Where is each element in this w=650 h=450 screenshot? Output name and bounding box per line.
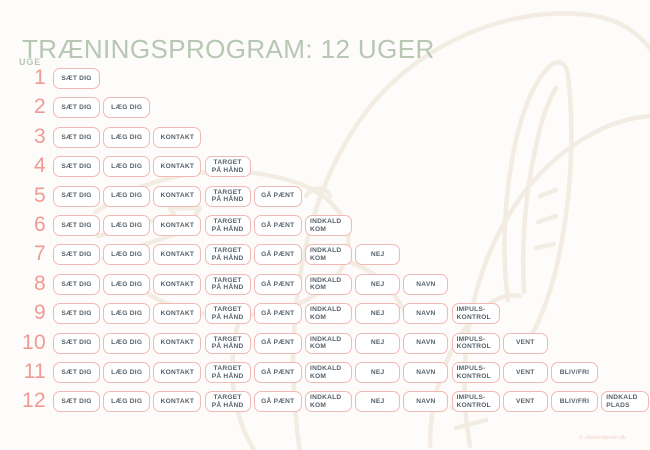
exercise-pill-nej[interactable]: NEJ bbox=[355, 391, 400, 412]
week-number: 9 bbox=[0, 299, 46, 327]
exercise-pill-label: PÅ HÅND bbox=[212, 226, 244, 234]
exercise-pill-label: LÆG DIG bbox=[111, 134, 142, 142]
exercise-pill-gaa-paent[interactable]: GÅ PÆNT bbox=[254, 244, 302, 265]
exercise-pill-bliv-fri[interactable]: BLIV/FRI bbox=[551, 391, 598, 412]
exercise-pill-label: KONTROL bbox=[457, 373, 491, 381]
exercise-pill-label: KOM bbox=[310, 373, 326, 381]
week-number: 6 bbox=[0, 211, 46, 239]
exercise-pill-label: GÅ PÆNT bbox=[261, 222, 294, 230]
week-row: 7SÆT DIGLÆG DIGKONTAKTTARGETPÅ HÅNDGÅ PÆ… bbox=[0, 240, 650, 268]
exercise-pill-kontakt[interactable]: KONTAKT bbox=[153, 274, 201, 295]
exercise-pill-label: INDKALD bbox=[310, 306, 341, 314]
week-number: 12 bbox=[0, 387, 46, 415]
poster-content: TRÆNINGSPROGRAM: 12 UGER UGE 1SÆT DIG2SÆ… bbox=[0, 0, 650, 450]
exercise-pill-label: KOM bbox=[310, 226, 326, 234]
exercise-pill-label: GÅ PÆNT bbox=[261, 310, 294, 318]
week-row: 2SÆT DIGLÆG DIG bbox=[0, 93, 650, 121]
exercise-pill-gaa-paent[interactable]: GÅ PÆNT bbox=[254, 274, 302, 295]
exercise-pill-label: LÆG DIG bbox=[111, 369, 142, 377]
exercise-pill-label: INDKALD bbox=[310, 394, 341, 402]
exercise-pill-label: NEJ bbox=[371, 398, 385, 406]
week-number: 4 bbox=[0, 152, 46, 180]
exercise-pill-saet-dig[interactable]: SÆT DIG bbox=[53, 127, 100, 148]
exercise-pill-indkald-kom[interactable]: INDKALDKOM bbox=[305, 215, 352, 236]
exercise-pill-label: TARGET bbox=[214, 189, 242, 197]
week-number: 11 bbox=[0, 358, 46, 386]
exercise-pill-kontakt[interactable]: KONTAKT bbox=[153, 186, 201, 207]
exercise-pill-nej[interactable]: NEJ bbox=[355, 303, 400, 324]
week-row: 8SÆT DIGLÆG DIGKONTAKTTARGETPÅ HÅNDGÅ PÆ… bbox=[0, 270, 650, 298]
exercise-pill-impuls-kontrol[interactable]: IMPULS-KONTROL bbox=[452, 333, 500, 354]
exercise-pill-label: PÅ HÅND bbox=[212, 402, 244, 410]
exercise-pill-indkald-kom[interactable]: INDKALDKOM bbox=[305, 274, 352, 295]
exercise-pill-label: LÆG DIG bbox=[111, 222, 142, 230]
exercise-pill-kontakt[interactable]: KONTAKT bbox=[153, 215, 201, 236]
exercise-pill-label: KONTROL bbox=[457, 314, 491, 322]
exercise-pill-label: KOM bbox=[310, 284, 326, 292]
exercise-pill-label: SÆT DIG bbox=[61, 339, 91, 347]
exercise-pill-saet-dig[interactable]: SÆT DIG bbox=[53, 244, 100, 265]
exercise-pill-label: KONTAKT bbox=[161, 192, 195, 200]
week-row: 6SÆT DIGLÆG DIGKONTAKTTARGETPÅ HÅNDGÅ PÆ… bbox=[0, 211, 650, 239]
exercise-pill-label: KONTROL bbox=[457, 343, 491, 351]
exercise-pill-laeg-dig[interactable]: LÆG DIG bbox=[103, 244, 150, 265]
exercise-pill-gaa-paent[interactable]: GÅ PÆNT bbox=[254, 362, 302, 383]
exercise-pill-saet-dig[interactable]: SÆT DIG bbox=[53, 333, 100, 354]
exercise-pill-bliv-fri[interactable]: BLIV/FRI bbox=[551, 362, 598, 383]
exercise-pill-label: SÆT DIG bbox=[61, 134, 91, 142]
exercise-pill-target-paa-haand[interactable]: TARGETPÅ HÅND bbox=[205, 244, 251, 265]
exercise-pill-label: GÅ PÆNT bbox=[261, 251, 294, 259]
exercise-pill-label: LÆG DIG bbox=[111, 398, 142, 406]
week-number: 3 bbox=[0, 123, 46, 151]
exercise-pill-target-paa-haand[interactable]: TARGETPÅ HÅND bbox=[205, 274, 251, 295]
exercise-pill-impuls-kontrol[interactable]: IMPULS-KONTROL bbox=[452, 391, 500, 412]
exercise-pill-navn[interactable]: NAVN bbox=[403, 362, 448, 383]
exercise-pill-label: NEJ bbox=[371, 251, 385, 259]
exercise-pill-label: IMPULS- bbox=[457, 394, 486, 402]
exercise-pill-target-paa-haand[interactable]: TARGETPÅ HÅND bbox=[205, 156, 251, 177]
exercise-pill-label: INDKALD bbox=[310, 336, 341, 344]
exercise-pill-gaa-paent[interactable]: GÅ PÆNT bbox=[254, 391, 302, 412]
exercise-pill-label: KONTAKT bbox=[161, 134, 195, 142]
exercise-pill-label: KOM bbox=[310, 314, 326, 322]
exercise-pill-kontakt[interactable]: KONTAKT bbox=[153, 333, 201, 354]
exercise-pill-label: VENT bbox=[516, 339, 535, 347]
week-number: 7 bbox=[0, 240, 46, 268]
exercise-pill-label: LÆG DIG bbox=[111, 251, 142, 259]
exercise-pill-label: GÅ PÆNT bbox=[261, 281, 294, 289]
exercise-pill-navn[interactable]: NAVN bbox=[403, 391, 448, 412]
exercise-pill-laeg-dig[interactable]: LÆG DIG bbox=[103, 186, 150, 207]
exercise-pill-nej[interactable]: NEJ bbox=[355, 244, 400, 265]
week-number: 5 bbox=[0, 182, 46, 210]
exercise-pill-label: TARGET bbox=[214, 306, 242, 314]
exercise-pill-label: NEJ bbox=[371, 310, 385, 318]
exercise-pill-label: PÅ HÅND bbox=[212, 343, 244, 351]
exercise-pill-label: INDKALD bbox=[310, 277, 341, 285]
exercise-pill-label: TARGET bbox=[214, 159, 242, 167]
exercise-pill-indkald-kom[interactable]: INDKALDKOM bbox=[305, 391, 352, 412]
exercise-pill-label: SÆT DIG bbox=[61, 281, 91, 289]
exercise-pill-label: SÆT DIG bbox=[61, 75, 91, 83]
training-program-poster: TRÆNINGSPROGRAM: 12 UGER UGE 1SÆT DIG2SÆ… bbox=[0, 0, 650, 450]
exercise-pill-label: GÅ PÆNT bbox=[261, 369, 294, 377]
week-row: 4SÆT DIGLÆG DIGKONTAKTTARGETPÅ HÅND bbox=[0, 152, 650, 180]
exercise-pill-navn[interactable]: NAVN bbox=[403, 333, 448, 354]
exercise-pill-gaa-paent[interactable]: GÅ PÆNT bbox=[254, 186, 302, 207]
exercise-pill-saet-dig[interactable]: SÆT DIG bbox=[53, 68, 100, 89]
exercise-pill-saet-dig[interactable]: SÆT DIG bbox=[53, 303, 100, 324]
exercise-pill-label: BLIV/FRI bbox=[560, 398, 589, 406]
exercise-pill-label: LÆG DIG bbox=[111, 163, 142, 171]
exercise-pill-label: PLADS bbox=[606, 402, 630, 410]
exercise-pill-laeg-dig[interactable]: LÆG DIG bbox=[103, 362, 150, 383]
exercise-pill-target-paa-haand[interactable]: TARGETPÅ HÅND bbox=[205, 186, 251, 207]
exercise-pill-nej[interactable]: NEJ bbox=[355, 274, 400, 295]
exercise-pill-saet-dig[interactable]: SÆT DIG bbox=[53, 215, 100, 236]
exercise-pill-label: NAVN bbox=[416, 369, 435, 377]
exercise-pill-laeg-dig[interactable]: LÆG DIG bbox=[103, 97, 150, 118]
exercise-pill-label: NAVN bbox=[416, 339, 435, 347]
exercise-pill-indkald-kom[interactable]: INDKALDKOM bbox=[305, 303, 352, 324]
exercise-pill-gaa-paent[interactable]: GÅ PÆNT bbox=[254, 215, 302, 236]
exercise-pill-label: BLIV/FRI bbox=[560, 369, 589, 377]
exercise-pill-label: IMPULS- bbox=[457, 365, 486, 373]
week-row: 1SÆT DIG bbox=[0, 64, 650, 92]
exercise-pill-label: TARGET bbox=[214, 247, 242, 255]
exercise-pill-label: NEJ bbox=[371, 369, 385, 377]
exercise-pill-gaa-paent[interactable]: GÅ PÆNT bbox=[254, 303, 302, 324]
exercise-pill-label: KONTAKT bbox=[161, 339, 195, 347]
exercise-pill-target-paa-haand[interactable]: TARGETPÅ HÅND bbox=[205, 303, 251, 324]
exercise-pill-gaa-paent[interactable]: GÅ PÆNT bbox=[254, 333, 302, 354]
exercise-pill-navn[interactable]: NAVN bbox=[403, 274, 448, 295]
watermark-credit: © vitamedpoter.dk bbox=[579, 435, 626, 441]
exercise-pill-label: SÆT DIG bbox=[61, 222, 91, 230]
exercise-pill-saet-dig[interactable]: SÆT DIG bbox=[53, 97, 100, 118]
exercise-pill-label: LÆG DIG bbox=[111, 192, 142, 200]
exercise-pill-label: INDKALD bbox=[310, 247, 341, 255]
exercise-pill-label: TARGET bbox=[214, 336, 242, 344]
exercise-pill-label: PÅ HÅND bbox=[212, 167, 244, 175]
exercise-pill-label: PÅ HÅND bbox=[212, 284, 244, 292]
week-number: 10 bbox=[0, 329, 46, 357]
exercise-pill-laeg-dig[interactable]: LÆG DIG bbox=[103, 156, 150, 177]
exercise-pill-laeg-dig[interactable]: LÆG DIG bbox=[103, 127, 150, 148]
exercise-pill-kontakt[interactable]: KONTAKT bbox=[153, 156, 201, 177]
exercise-pill-label: PÅ HÅND bbox=[212, 196, 244, 204]
exercise-pill-target-paa-haand[interactable]: TARGETPÅ HÅND bbox=[205, 333, 251, 354]
exercise-pill-label: KONTAKT bbox=[161, 222, 195, 230]
week-row: 12SÆT DIGLÆG DIGKONTAKTTARGETPÅ HÅNDGÅ P… bbox=[0, 387, 650, 415]
week-number: 8 bbox=[0, 270, 46, 298]
exercise-pill-vent[interactable]: VENT bbox=[503, 391, 548, 412]
exercise-pill-saet-dig[interactable]: SÆT DIG bbox=[53, 362, 100, 383]
exercise-pill-label: LÆG DIG bbox=[111, 310, 142, 318]
exercise-pill-label: KONTAKT bbox=[161, 163, 195, 171]
exercise-pill-saet-dig[interactable]: SÆT DIG bbox=[53, 274, 100, 295]
exercise-pill-label: KONTAKT bbox=[161, 369, 195, 377]
exercise-pill-label: IMPULS- bbox=[457, 306, 486, 314]
exercise-pill-laeg-dig[interactable]: LÆG DIG bbox=[103, 303, 150, 324]
exercise-pill-impuls-kontrol[interactable]: IMPULS-KONTROL bbox=[452, 303, 500, 324]
exercise-pill-target-paa-haand[interactable]: TARGETPÅ HÅND bbox=[205, 215, 251, 236]
exercise-pill-label: SÆT DIG bbox=[61, 104, 91, 112]
exercise-pill-label: PÅ HÅND bbox=[212, 373, 244, 381]
exercise-pill-label: NAVN bbox=[416, 310, 435, 318]
exercise-pill-label: KONTAKT bbox=[161, 398, 195, 406]
exercise-pill-vent[interactable]: VENT bbox=[503, 362, 548, 383]
exercise-pill-kontakt[interactable]: KONTAKT bbox=[153, 127, 201, 148]
exercise-pill-saet-dig[interactable]: SÆT DIG bbox=[53, 186, 100, 207]
exercise-pill-laeg-dig[interactable]: LÆG DIG bbox=[103, 215, 150, 236]
exercise-pill-label: GÅ PÆNT bbox=[261, 398, 294, 406]
exercise-pill-label: TARGET bbox=[214, 394, 242, 402]
week-row: 5SÆT DIGLÆG DIGKONTAKTTARGETPÅ HÅNDGÅ PÆ… bbox=[0, 182, 650, 210]
exercise-pill-target-paa-haand[interactable]: TARGETPÅ HÅND bbox=[205, 391, 251, 412]
exercise-pill-indkald-kom[interactable]: INDKALDKOM bbox=[305, 333, 352, 354]
exercise-pill-indkald-plads[interactable]: INDKALDPLADS bbox=[601, 391, 649, 412]
exercise-pill-vent[interactable]: VENT bbox=[503, 333, 548, 354]
exercise-pill-label: KONTAKT bbox=[161, 310, 195, 318]
exercise-pill-label: KONTAKT bbox=[161, 281, 195, 289]
week-row: 3SÆT DIGLÆG DIGKONTAKT bbox=[0, 123, 650, 151]
exercise-pill-label: TARGET bbox=[214, 365, 242, 373]
exercise-pill-nej[interactable]: NEJ bbox=[355, 333, 400, 354]
exercise-pill-laeg-dig[interactable]: LÆG DIG bbox=[103, 274, 150, 295]
exercise-pill-label: KONTROL bbox=[457, 402, 491, 410]
exercise-pill-label: SÆT DIG bbox=[61, 398, 91, 406]
exercise-pill-label: NEJ bbox=[371, 339, 385, 347]
exercise-pill-kontakt[interactable]: KONTAKT bbox=[153, 303, 201, 324]
exercise-pill-label: SÆT DIG bbox=[61, 310, 91, 318]
exercise-pill-label: SÆT DIG bbox=[61, 251, 91, 259]
exercise-pill-indkald-kom[interactable]: INDKALDKOM bbox=[305, 362, 352, 383]
exercise-pill-label: IMPULS- bbox=[457, 336, 486, 344]
exercise-pill-label: KOM bbox=[310, 255, 326, 263]
exercise-pill-saet-dig[interactable]: SÆT DIG bbox=[53, 156, 100, 177]
exercise-pill-label: PÅ HÅND bbox=[212, 255, 244, 263]
exercise-pill-label: GÅ PÆNT bbox=[261, 339, 294, 347]
week-row: 11SÆT DIGLÆG DIGKONTAKTTARGETPÅ HÅNDGÅ P… bbox=[0, 358, 650, 386]
exercise-pill-label: NEJ bbox=[371, 281, 385, 289]
week-number: 1 bbox=[0, 64, 46, 92]
exercise-pill-label: INDKALD bbox=[310, 365, 341, 373]
exercise-pill-saet-dig[interactable]: SÆT DIG bbox=[53, 391, 100, 412]
exercise-pill-label: SÆT DIG bbox=[61, 369, 91, 377]
exercise-pill-impuls-kontrol[interactable]: IMPULS-KONTROL bbox=[452, 362, 500, 383]
exercise-pill-label: LÆG DIG bbox=[111, 339, 142, 347]
exercise-pill-label: VENT bbox=[516, 369, 535, 377]
exercise-pill-label: NAVN bbox=[416, 281, 435, 289]
exercise-pill-label: KOM bbox=[310, 343, 326, 351]
exercise-pill-label: KONTAKT bbox=[161, 251, 195, 259]
exercise-pill-label: VENT bbox=[516, 398, 535, 406]
week-number: 2 bbox=[0, 93, 46, 121]
exercise-pill-label: KOM bbox=[310, 402, 326, 410]
week-row: 9SÆT DIGLÆG DIGKONTAKTTARGETPÅ HÅNDGÅ PÆ… bbox=[0, 299, 650, 327]
exercise-pill-label: SÆT DIG bbox=[61, 192, 91, 200]
exercise-pill-label: LÆG DIG bbox=[111, 281, 142, 289]
exercise-pill-label: LÆG DIG bbox=[111, 104, 142, 112]
exercise-pill-label: GÅ PÆNT bbox=[261, 192, 294, 200]
exercise-pill-label: TARGET bbox=[214, 218, 242, 226]
exercise-pill-nej[interactable]: NEJ bbox=[355, 362, 400, 383]
week-row: 10SÆT DIGLÆG DIGKONTAKTTARGETPÅ HÅNDGÅ P… bbox=[0, 329, 650, 357]
exercise-pill-label: INDKALD bbox=[606, 394, 637, 402]
exercise-pill-label: NAVN bbox=[416, 398, 435, 406]
exercise-pill-navn[interactable]: NAVN bbox=[403, 303, 448, 324]
exercise-pill-kontakt[interactable]: KONTAKT bbox=[153, 391, 201, 412]
exercise-pill-target-paa-haand[interactable]: TARGETPÅ HÅND bbox=[205, 362, 251, 383]
exercise-pill-kontakt[interactable]: KONTAKT bbox=[153, 244, 201, 265]
page-title: TRÆNINGSPROGRAM: 12 UGER bbox=[22, 34, 435, 65]
exercise-pill-laeg-dig[interactable]: LÆG DIG bbox=[103, 333, 150, 354]
exercise-pill-laeg-dig[interactable]: LÆG DIG bbox=[103, 391, 150, 412]
exercise-pill-label: INDKALD bbox=[310, 218, 341, 226]
exercise-pill-label: SÆT DIG bbox=[61, 163, 91, 171]
exercise-pill-indkald-kom[interactable]: INDKALDKOM bbox=[305, 244, 352, 265]
exercise-pill-label: PÅ HÅND bbox=[212, 314, 244, 322]
exercise-pill-kontakt[interactable]: KONTAKT bbox=[153, 362, 201, 383]
